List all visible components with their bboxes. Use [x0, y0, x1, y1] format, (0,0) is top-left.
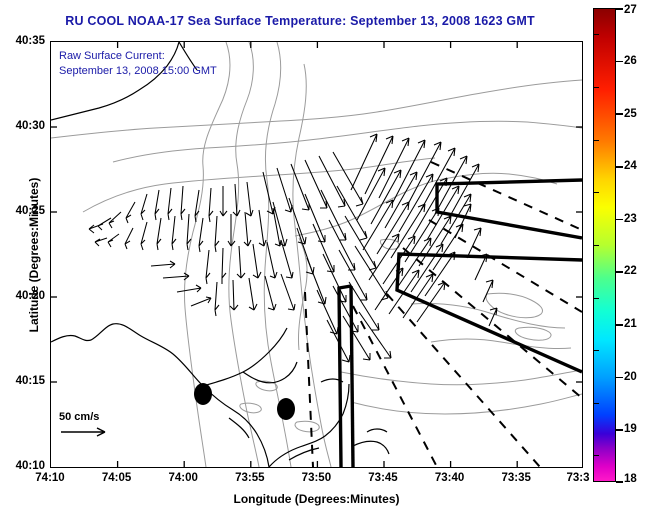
- cbtick-25: 25: [624, 108, 637, 120]
- xtick-5: 73:45: [368, 472, 397, 484]
- surface-current-vectors: [89, 134, 497, 362]
- current-annotation: Raw Surface Current: September 13, 2008 …: [59, 49, 217, 79]
- x-axis-label: Longitude (Degrees:Minutes): [50, 492, 583, 506]
- cbtick-20: 20: [624, 371, 637, 383]
- sst-contour-group: [51, 42, 582, 467]
- cbtick-22: 22: [624, 265, 637, 277]
- ytick-5: 40:10: [0, 460, 45, 472]
- cbtick-21: 21: [624, 318, 637, 330]
- xtick-0: 74:10: [35, 472, 64, 484]
- cbtick-24: 24: [624, 160, 637, 172]
- cbtick-27: 27: [624, 4, 637, 16]
- ytick-4: 40:15: [0, 375, 45, 387]
- xtick-3: 73:55: [235, 472, 264, 484]
- xtick-4: 73:50: [302, 472, 331, 484]
- map-plot-area[interactable]: Raw Surface Current: September 13, 2008 …: [50, 41, 583, 468]
- cbtick-23: 23: [624, 213, 637, 225]
- map-graphics: [51, 42, 582, 467]
- figure-canvas: RU COOL NOAA-17 Sea Surface Temperature:…: [0, 0, 651, 518]
- xtick-8: 73:3: [566, 472, 589, 484]
- page-title: RU COOL NOAA-17 Sea Surface Temperature:…: [0, 14, 600, 28]
- cbtick-19: 19: [624, 423, 637, 435]
- ytick-1: 40:30: [0, 120, 45, 132]
- vector-scale-label: 50 cm/s: [59, 410, 115, 424]
- cbtick-18: 18: [624, 473, 637, 485]
- xtick-1: 74:05: [102, 472, 131, 484]
- y-axis-label: Latitude (Degrees:Minutes): [27, 145, 41, 365]
- xtick-7: 73:35: [501, 472, 530, 484]
- xtick-2: 74:00: [168, 472, 197, 484]
- vector-scale-arrow-icon: [59, 424, 115, 440]
- current-annotation-line1: Raw Surface Current:: [59, 49, 217, 64]
- ytick-0: 40:35: [0, 35, 45, 47]
- cbtick-26: 26: [624, 55, 637, 67]
- xtick-6: 73:40: [435, 472, 464, 484]
- vector-scale-legend: 50 cm/s: [59, 410, 115, 444]
- current-annotation-line2: September 13, 2008 15:00 GMT: [59, 64, 217, 79]
